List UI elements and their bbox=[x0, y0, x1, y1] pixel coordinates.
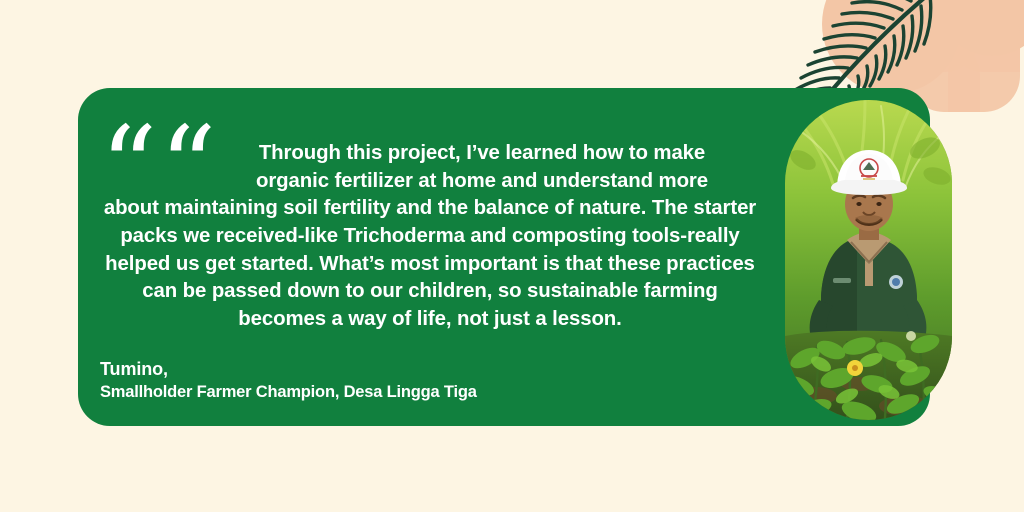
quote-line: Through this project, I’ve learned how t… bbox=[100, 140, 760, 168]
farmer-photo-illustration bbox=[785, 100, 952, 420]
testimonial-graphic: ““ Through this project, I’ve learned ho… bbox=[0, 0, 1024, 512]
quote-text: Through this project, I’ve learned how t… bbox=[100, 118, 760, 333]
attribution-role: Smallholder Farmer Champion, Desa Lingga… bbox=[100, 381, 477, 403]
quote-line: about maintaining soil fertility and the… bbox=[104, 197, 646, 219]
quote-line: way of life, not just a lesson. bbox=[348, 308, 621, 330]
attribution: Tumino, Smallholder Farmer Champion, Des… bbox=[100, 358, 477, 404]
quote-line: organic fertilizer at home and understan… bbox=[100, 168, 760, 196]
farmer-photo bbox=[785, 100, 952, 420]
attribution-name: Tumino, bbox=[100, 358, 477, 381]
quote-body: Through this project, I’ve learned how t… bbox=[100, 118, 760, 333]
